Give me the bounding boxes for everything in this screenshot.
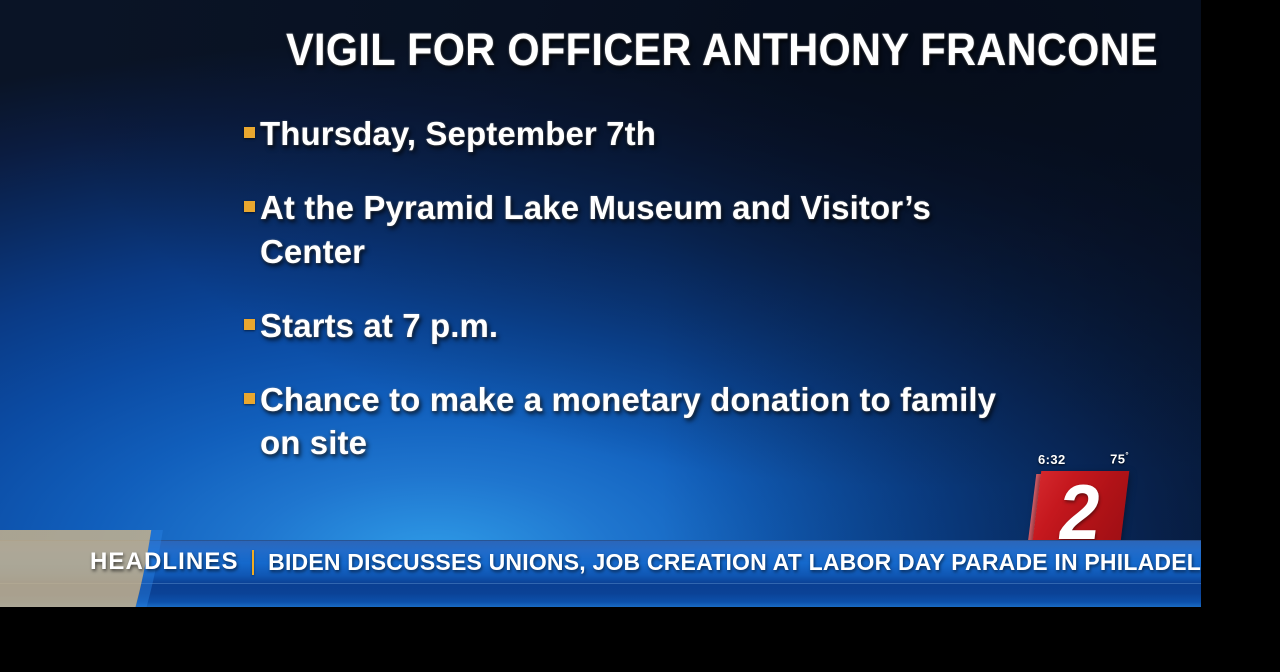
headlines-ticker: HEADLINES BIDEN DISCUSSES UNIONS, JOB CR… bbox=[0, 540, 1201, 584]
list-item: Thursday, September 7th bbox=[244, 112, 1034, 156]
ticker-label: HEADLINES bbox=[90, 548, 239, 576]
video-player-frame: VIGIL FOR OFFICER ANTHONY FRANCONE Thurs… bbox=[0, 0, 1201, 607]
ticker-separator-icon bbox=[252, 550, 255, 575]
temperature-readout: 75° bbox=[1110, 451, 1129, 466]
list-item-label: Thursday, September 7th bbox=[260, 112, 656, 156]
clock-time: 6:32 bbox=[1038, 452, 1066, 467]
list-item-label: Starts at 7 p.m. bbox=[260, 304, 498, 348]
page-title: VIGIL FOR OFFICER ANTHONY FRANCONE bbox=[286, 26, 1114, 73]
screenshot-root: VIGIL FOR OFFICER ANTHONY FRANCONE Thurs… bbox=[0, 0, 1280, 672]
bullet-square-icon bbox=[244, 319, 255, 330]
list-item: Chance to make a monetary donation to fa… bbox=[244, 378, 1034, 466]
bullet-square-icon bbox=[244, 127, 255, 138]
list-item-label: At the Pyramid Lake Museum and Visitor’s… bbox=[260, 186, 1034, 274]
station-bug-info: 6:32 75° bbox=[1028, 449, 1133, 469]
degree-symbol: ° bbox=[1125, 451, 1129, 460]
list-item: At the Pyramid Lake Museum and Visitor’s… bbox=[244, 186, 1034, 274]
list-item: Starts at 7 p.m. bbox=[244, 304, 1034, 348]
bullet-square-icon bbox=[244, 393, 255, 404]
ticker-headline-text: BIDEN DISCUSSES UNIONS, JOB CREATION AT … bbox=[268, 549, 1201, 576]
list-item-label: Chance to make a monetary donation to fa… bbox=[260, 378, 1034, 466]
temperature-value: 75 bbox=[1110, 452, 1125, 467]
bullet-square-icon bbox=[244, 201, 255, 212]
lower-third-band bbox=[0, 584, 1201, 607]
bullet-list: Thursday, September 7th At the Pyramid L… bbox=[244, 112, 1034, 495]
left-swoosh-graphic bbox=[0, 0, 200, 607]
